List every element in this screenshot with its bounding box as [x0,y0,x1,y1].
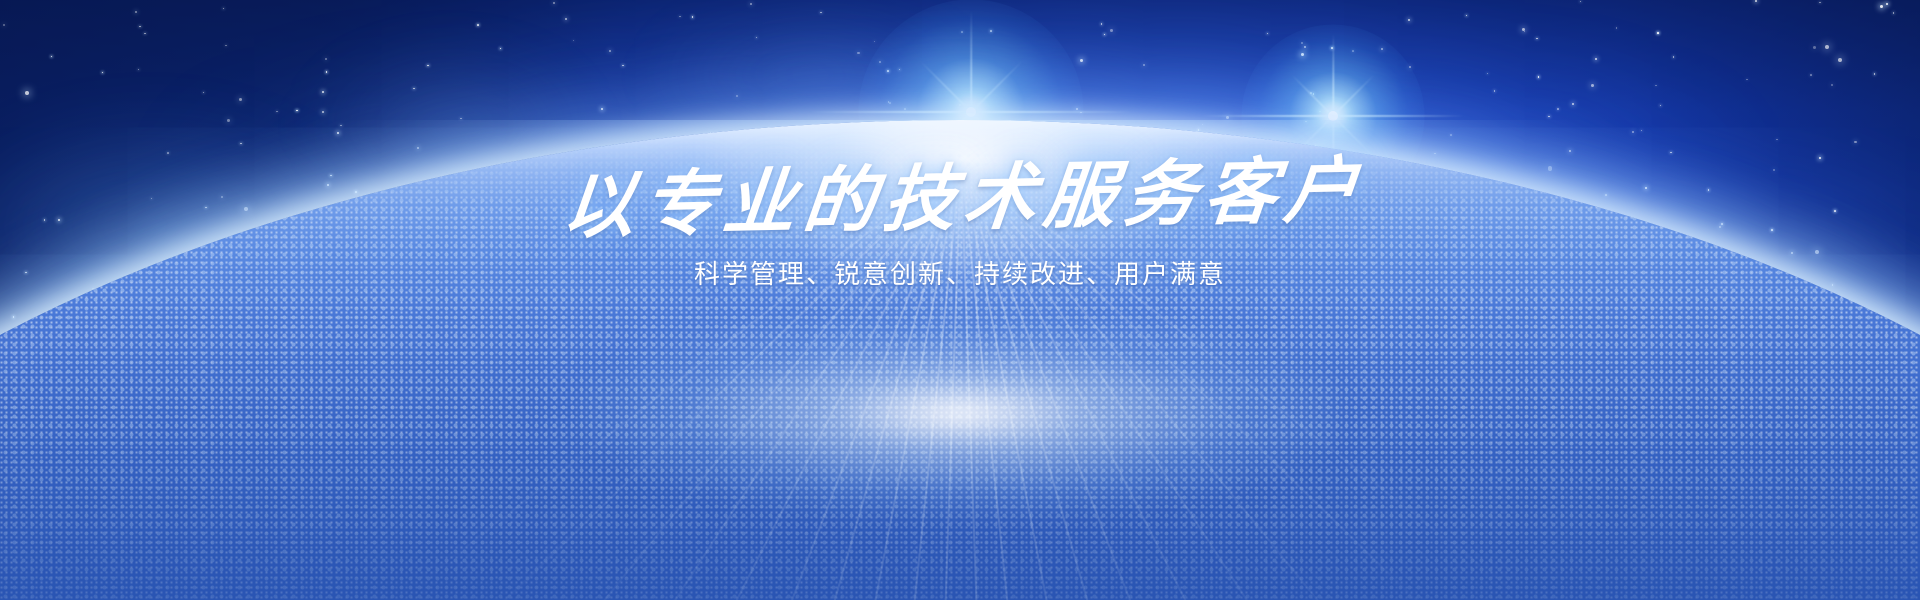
data-light-columns [0,200,1920,530]
hero-banner: 以专业的技术服务客户 科学管理、锐意创新、持续改进、用户满意 [0,0,1920,600]
